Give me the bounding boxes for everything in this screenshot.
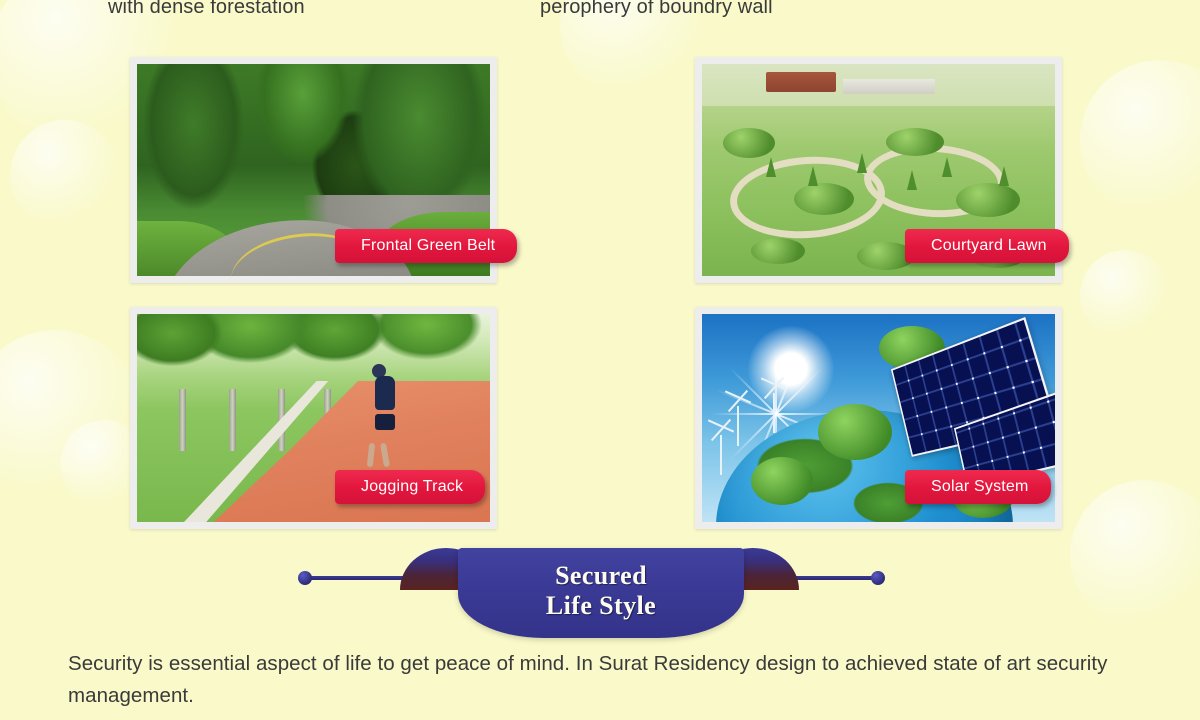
- banner-dot-right: [871, 571, 885, 585]
- security-paragraph: Security is essential aspect of life to …: [68, 648, 1143, 712]
- caption-row: with dense forestation perophery of boun…: [0, 0, 1200, 30]
- runner-figure: [375, 414, 395, 430]
- wind-turbine-icon: [720, 435, 722, 475]
- banner-title-line-2: Life Style: [546, 592, 656, 620]
- topiary-cone: [808, 166, 818, 186]
- topiary-cone: [907, 170, 917, 190]
- tree-trunk: [229, 389, 236, 451]
- banner-title-line-1: Secured: [555, 562, 647, 590]
- garden-building-secondary: [843, 79, 935, 94]
- photo-label-jogging-track: Jogging Track: [335, 470, 485, 504]
- hedge: [956, 183, 1020, 217]
- hedge: [723, 128, 775, 158]
- caption-left: with dense forestation: [108, 0, 305, 19]
- runner-figure: [375, 376, 395, 410]
- topiary-cone: [857, 153, 867, 173]
- hedge: [794, 183, 854, 215]
- photo-label-frontal-green-belt: Frontal Green Belt: [335, 229, 517, 263]
- photo-label-courtyard-lawn: Courtyard Lawn: [905, 229, 1069, 263]
- brochure-page: with dense forestation perophery of boun…: [0, 0, 1200, 720]
- tree-trunk: [179, 389, 186, 451]
- tree: [818, 404, 892, 460]
- caption-right: perophery of boundry wall: [540, 0, 773, 19]
- topiary-cone: [942, 157, 952, 177]
- section-banner: Secured Life Style: [0, 540, 1200, 644]
- topiary-cone: [766, 157, 776, 177]
- banner-dot-left: [298, 571, 312, 585]
- photo-label-solar-system: Solar System: [905, 470, 1051, 504]
- hedge: [886, 128, 944, 156]
- wind-turbine-icon: [737, 406, 739, 446]
- wind-turbine-icon: [773, 393, 775, 433]
- banner-body: Secured Life Style: [458, 548, 744, 638]
- garden-building: [766, 72, 837, 91]
- topiary-cone: [999, 166, 1009, 186]
- hedge: [751, 238, 805, 264]
